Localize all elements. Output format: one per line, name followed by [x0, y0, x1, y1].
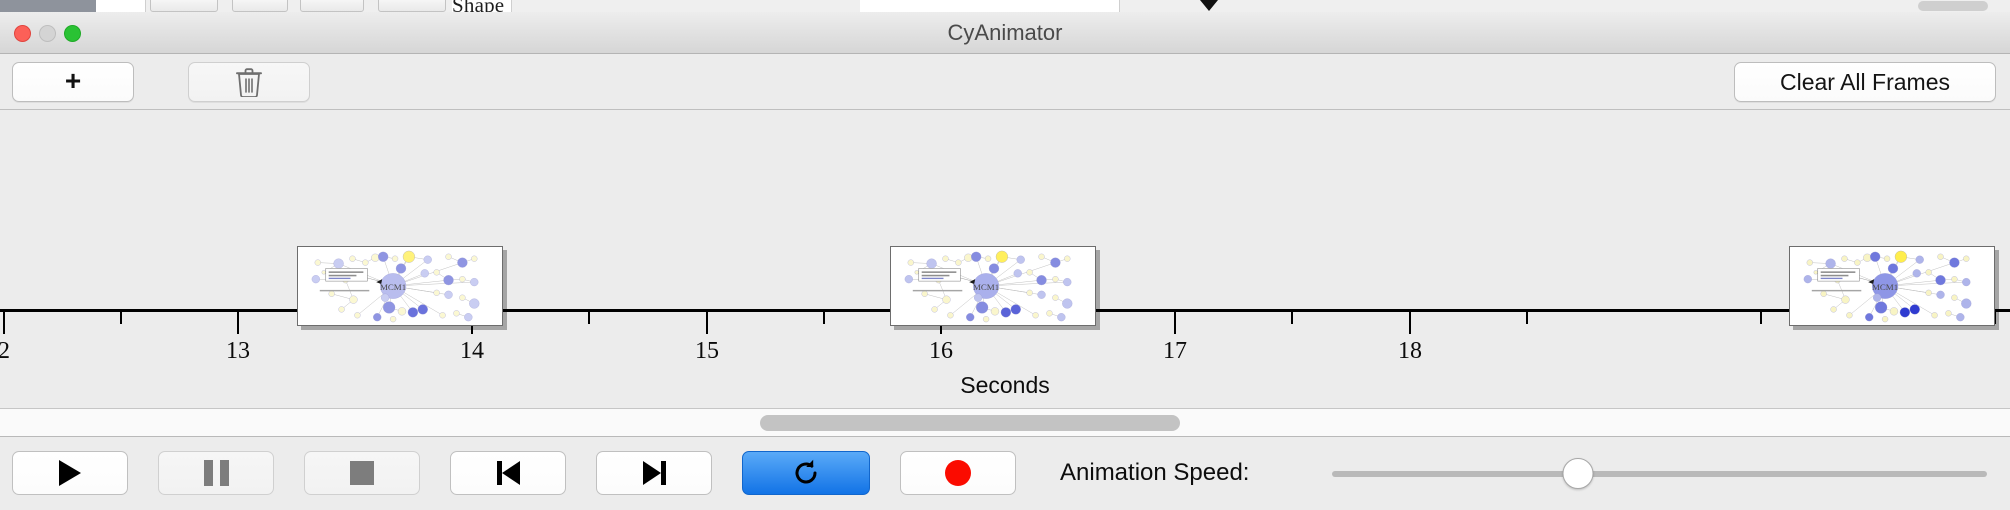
background-tab-1 — [150, 0, 218, 12]
axis-tick-minor — [1760, 312, 1762, 324]
delete-frame-button[interactable] — [188, 62, 310, 102]
title-bar: CyAnimator — [0, 12, 2010, 54]
skip-forward-icon — [643, 461, 666, 485]
timeline-frame-thumbnail[interactable]: MCM1 — [890, 246, 1096, 326]
svg-text:MCM1: MCM1 — [1872, 282, 1898, 292]
timeline-content: Seconds 2131415161718MCM1MCM1MCM1 — [0, 110, 2010, 409]
zoom-icon[interactable] — [64, 25, 81, 42]
axis-tick-label: 14 — [460, 338, 484, 365]
timeline-panel[interactable]: Seconds 2131415161718MCM1MCM1MCM1 — [0, 110, 2010, 409]
svg-text:MCM1: MCM1 — [973, 282, 999, 292]
axis-tick-minor — [588, 312, 590, 324]
svg-text:MCM1: MCM1 — [380, 282, 406, 292]
slider-track — [1332, 471, 1987, 477]
axis-tick-minor — [823, 312, 825, 324]
play-button[interactable] — [12, 451, 128, 495]
background-dark-bar — [0, 0, 96, 12]
loop-icon — [791, 458, 821, 488]
record-button[interactable] — [900, 451, 1016, 495]
background-cursor-icon — [1200, 0, 1218, 11]
axis-tick-minor — [1291, 312, 1293, 324]
axis-tick-major — [1409, 312, 1411, 334]
axis-tick-label: 17 — [1163, 338, 1187, 365]
background-tab-2 — [232, 0, 288, 12]
previous-frame-button[interactable] — [450, 451, 566, 495]
axis-tick-label: 18 — [1398, 338, 1422, 365]
next-frame-button[interactable] — [596, 451, 712, 495]
clear-all-frames-label: Clear All Frames — [1780, 69, 1950, 96]
stop-icon — [350, 461, 374, 485]
background-tab-3 — [300, 0, 364, 12]
background-tab-4 — [378, 0, 446, 12]
axis-tick-label: 2 — [0, 338, 10, 365]
axis-tick-label: 13 — [226, 338, 250, 365]
axis-tick-major — [706, 312, 708, 334]
network-preview: MCM1 — [298, 247, 502, 325]
traffic-lights — [14, 25, 81, 42]
background-scrollbar — [1918, 1, 1988, 11]
slider-knob[interactable] — [1562, 458, 1593, 489]
skip-back-icon — [497, 461, 520, 485]
axis-tick-major — [3, 312, 5, 334]
plus-icon: + — [65, 67, 81, 95]
background-white-cell-1 — [96, 0, 146, 12]
stop-button[interactable] — [304, 451, 420, 495]
timeline-frame-thumbnail[interactable]: MCM1 — [297, 246, 503, 326]
background-window-strip: Shape — [0, 0, 2010, 12]
timeline-frame-thumbnail[interactable]: MCM1 — [1789, 246, 1995, 326]
network-preview: MCM1 — [1790, 247, 1994, 325]
close-icon[interactable] — [14, 25, 31, 42]
loop-button[interactable] — [742, 451, 870, 495]
page-title: CyAnimator — [0, 12, 2010, 54]
pause-button[interactable] — [158, 451, 274, 495]
timeline-scrollbar-thumb[interactable] — [760, 415, 1180, 431]
trash-icon — [236, 67, 262, 97]
axis-title: Seconds — [0, 372, 2010, 399]
axis-tick-minor — [120, 312, 122, 324]
axis-tick-major — [1174, 312, 1176, 334]
animation-speed-label: Animation Speed: — [1060, 451, 1249, 495]
axis-tick-minor — [1526, 312, 1528, 324]
play-icon — [59, 460, 81, 486]
cyanimator-window: Shape CyAnimator + Clear All Frames — [0, 0, 2010, 510]
animation-speed-slider[interactable] — [1332, 471, 1987, 477]
add-frame-button[interactable]: + — [12, 62, 134, 102]
network-preview: MCM1 — [891, 247, 1095, 325]
axis-tick-major — [237, 312, 239, 334]
minimize-icon[interactable] — [39, 25, 56, 42]
playback-controls: Animation Speed: — [0, 438, 2010, 510]
background-window-word: Shape — [452, 0, 504, 12]
pause-icon — [204, 460, 229, 486]
clear-all-frames-button[interactable]: Clear All Frames — [1734, 62, 1996, 102]
record-icon — [945, 460, 971, 486]
timeline-scrollbar[interactable] — [0, 409, 2010, 437]
axis-tick-label: 16 — [929, 338, 953, 365]
axis-tick-label: 15 — [695, 338, 719, 365]
background-white-cell-3 — [860, 0, 1120, 12]
toolbar: + Clear All Frames — [0, 54, 2010, 110]
